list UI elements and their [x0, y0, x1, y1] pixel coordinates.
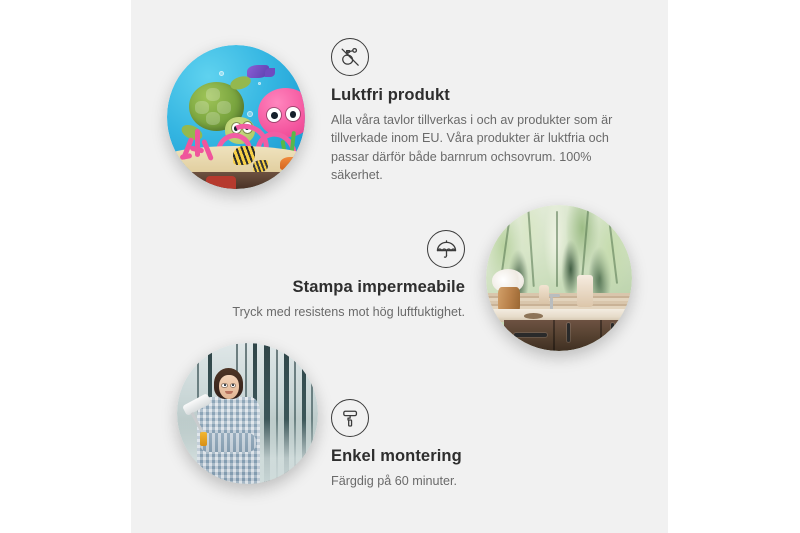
treasure-chest	[206, 176, 236, 189]
yellow-striped-fish-icon	[233, 146, 255, 165]
octopus-eye	[286, 107, 300, 122]
octopus-eye	[267, 108, 281, 123]
small-fish-icon	[253, 160, 268, 172]
octopus-head	[258, 88, 305, 137]
paint-roller-grip	[200, 432, 207, 446]
feature-body: Tryck med resistens mot hög luftfuktighe…	[215, 303, 465, 321]
painter-eye	[231, 384, 235, 387]
umbrella-icon	[427, 230, 465, 268]
door-handle	[611, 323, 614, 342]
bathroom-vanity-tropical-wallpaper-photo	[486, 205, 632, 351]
feature-title: Enkel montering	[331, 447, 591, 466]
wooden-vanity-cabinet	[504, 320, 632, 351]
door-handle	[567, 323, 570, 342]
woman-with-paint-roller-forest-mural-photo	[177, 343, 318, 484]
feature-body: Alla våra tavlor tillverkas i och av pro…	[331, 111, 623, 185]
purple-fish-tail	[265, 68, 275, 77]
promo-banner: Luktfri produkt Alla våra tavlor tillver…	[0, 0, 800, 533]
paint-roller-icon	[331, 399, 369, 437]
pink-coral-icon	[178, 129, 219, 169]
feature-odourless: Luktfri produkt Alla våra tavlor tillver…	[331, 38, 623, 185]
painter-folded-arms	[200, 433, 256, 451]
no-odour-perfume-bottle-icon	[331, 38, 369, 76]
underwater-cartoon-mural-photo	[167, 45, 305, 189]
soap-bottle	[539, 285, 549, 304]
drawer-handle	[514, 333, 547, 337]
feature-waterproof: Stampa impermeabile Tryck med resistens …	[215, 230, 465, 321]
feature-assembly: Enkel montering Färgdig på 60 minuter.	[331, 399, 591, 490]
sea-bottom-shadow	[167, 172, 305, 189]
tall-dispenser-bottle	[577, 275, 593, 307]
feature-body: Färgdig på 60 minuter.	[331, 472, 591, 490]
feature-title: Stampa impermeabile	[215, 278, 465, 297]
painter-eye	[222, 384, 226, 387]
feature-title: Luktfri produkt	[331, 86, 623, 105]
soap-dish	[524, 313, 543, 319]
